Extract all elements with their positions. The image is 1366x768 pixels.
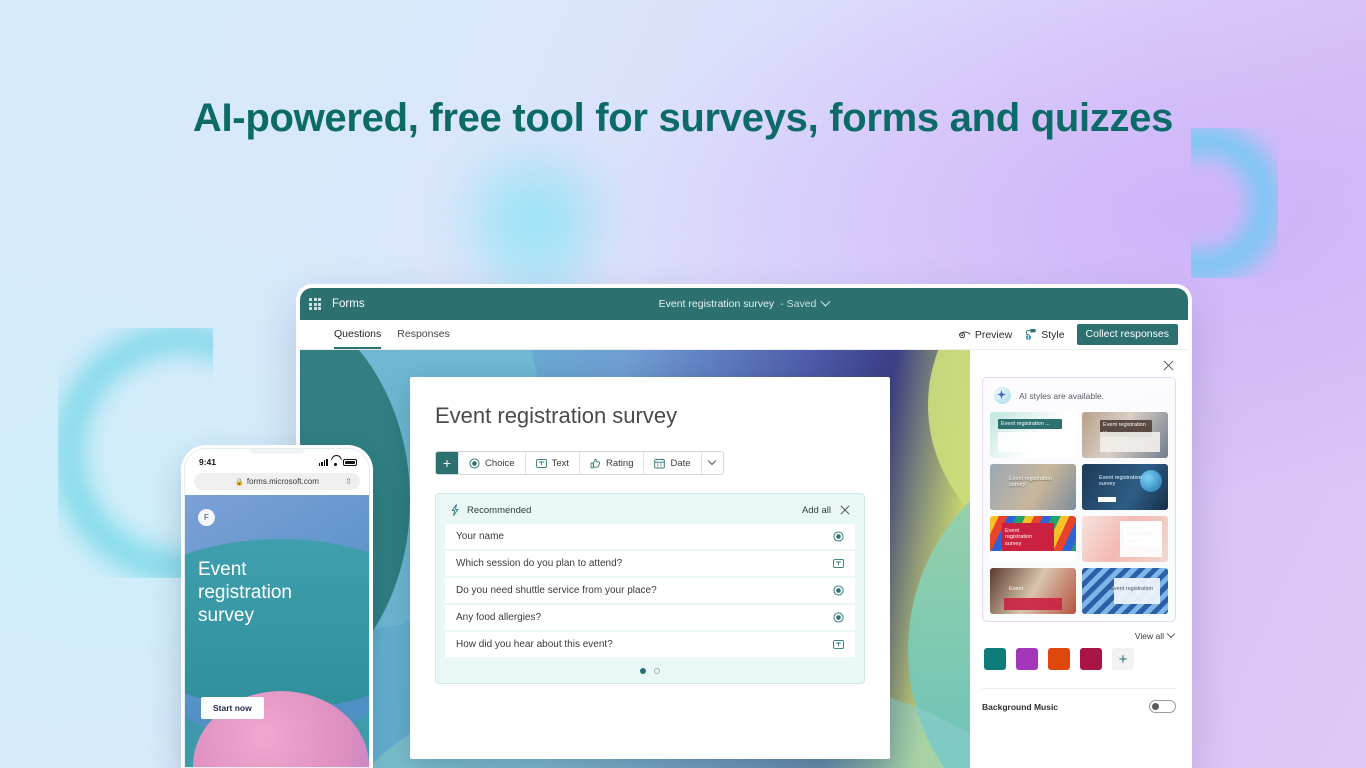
recommended-header: Recommended Add all xyxy=(445,502,855,524)
text-box-icon xyxy=(833,558,844,569)
tab-list: Questions Responses xyxy=(334,320,450,349)
theme-label: Event xyxy=(1006,584,1026,594)
pagination-dots xyxy=(445,659,855,674)
text-box-icon xyxy=(833,639,844,650)
paint-roller-icon xyxy=(1024,328,1037,341)
list-item[interactable]: How did you hear about this event? xyxy=(445,632,855,657)
question-type-date-label: Date xyxy=(670,458,690,469)
phone-notch xyxy=(249,449,305,454)
plus-icon: + xyxy=(443,456,451,470)
recommended-title: Recommended xyxy=(467,505,531,516)
add-all-button[interactable]: Add all xyxy=(802,505,831,516)
question-type-text[interactable]: Text xyxy=(525,452,579,474)
pagination-dot[interactable] xyxy=(654,668,660,674)
collect-responses-button[interactable]: Collect responses xyxy=(1077,324,1178,345)
background-music-label: Background Music xyxy=(982,702,1058,712)
theme-thumbnail-floral-pink[interactable]: Event registration survey xyxy=(1082,516,1168,562)
ai-styles-notice: AI styles are available. xyxy=(990,385,1168,412)
chevron-down-icon[interactable] xyxy=(821,296,831,306)
background-blob-left xyxy=(440,130,630,300)
question-type-rating[interactable]: Rating xyxy=(579,452,643,474)
theme-gallery: AI styles are available. Event registrat… xyxy=(982,377,1176,622)
save-state-label: - Saved xyxy=(780,298,816,310)
radio-button-icon xyxy=(833,612,844,623)
form-sheet: Event registration survey + Choice Text xyxy=(410,377,890,759)
tab-questions[interactable]: Questions xyxy=(334,320,381,349)
theme-label: Event registration xyxy=(1107,584,1156,594)
add-color-button[interactable]: + xyxy=(1112,648,1134,670)
background-music-setting: Background Music xyxy=(982,688,1176,713)
radio-button-icon xyxy=(833,531,844,542)
more-question-types-button[interactable] xyxy=(701,452,723,474)
recommended-question-text: Any food allergies? xyxy=(456,612,541,623)
list-item[interactable]: Any food allergies? xyxy=(445,605,855,630)
background-music-toggle[interactable] xyxy=(1149,700,1176,713)
plus-icon: + xyxy=(1119,652,1128,667)
document-title: Event registration survey xyxy=(659,298,775,310)
phone-url-text: forms.microsoft.com xyxy=(247,477,319,486)
page-title: AI-powered, free tool for surveys, forms… xyxy=(0,96,1366,141)
theme-label: Event registration ... xyxy=(1100,420,1152,437)
lock-icon: 🔒 xyxy=(235,478,244,486)
question-type-toolbar: + Choice Text xyxy=(435,451,724,475)
avatar: F xyxy=(198,509,215,526)
eye-icon xyxy=(958,329,971,340)
view-all-label: View all xyxy=(1135,631,1164,641)
theme-label: Event registration survey xyxy=(1096,473,1154,490)
phone-url-bar[interactable]: 🔒 forms.microsoft.com ⇧ xyxy=(194,473,360,490)
theme-thumbnail-autumn-red[interactable]: Event xyxy=(990,568,1076,614)
theme-thumbnail-night-globe[interactable]: Event registration survey xyxy=(1082,464,1168,510)
theme-thumbnail-teal-minimal[interactable]: Event registration ... xyxy=(990,412,1076,458)
forms-app-window: Forms Event registration survey - Saved … xyxy=(300,288,1188,768)
theme-label: Event registration ... xyxy=(998,419,1062,429)
style-panel: AI styles are available. Event registrat… xyxy=(970,350,1188,768)
cellular-bars-icon xyxy=(319,459,328,466)
color-swatch-purple[interactable] xyxy=(1016,648,1038,670)
document-title-group[interactable]: Event registration survey - Saved xyxy=(300,298,1188,310)
lightning-sparkle-icon xyxy=(450,504,461,516)
preview-button[interactable]: Preview xyxy=(958,329,1012,341)
wifi-icon xyxy=(331,459,340,466)
radio-button-icon xyxy=(469,458,480,469)
style-button[interactable]: Style xyxy=(1024,328,1064,341)
style-label: Style xyxy=(1041,329,1064,341)
theme-thumbnail-color-blocks[interactable]: Event registration survey xyxy=(990,516,1076,562)
theme-label: Event registration survey xyxy=(1002,526,1042,549)
recommended-question-text: How did you hear about this event? xyxy=(456,639,613,650)
ai-styles-label: AI styles are available. xyxy=(1019,391,1104,401)
chevron-down-icon xyxy=(708,457,716,465)
radio-button-icon xyxy=(833,585,844,596)
share-icon[interactable]: ⇧ xyxy=(345,477,352,486)
status-time: 9:41 xyxy=(199,457,216,467)
calendar-icon xyxy=(654,458,665,469)
close-icon[interactable] xyxy=(840,505,850,515)
phone-mockup: 9:41 🔒 forms.microsoft.com ⇧ F Event reg… xyxy=(184,448,370,768)
recommended-question-text: Your name xyxy=(456,531,504,542)
style-panel-close-button[interactable] xyxy=(982,358,1176,377)
recommended-actions: Add all xyxy=(802,505,850,516)
list-item[interactable]: Do you need shuttle service from your pl… xyxy=(445,578,855,603)
thumbs-up-icon xyxy=(590,458,601,469)
view-all-button[interactable]: View all xyxy=(982,622,1176,648)
theme-thumbnail-grid: Event registration ... Event registratio… xyxy=(990,412,1168,614)
question-type-choice[interactable]: Choice xyxy=(458,452,525,474)
recommended-question-text: Do you need shuttle service from your pl… xyxy=(456,585,657,596)
battery-full-icon xyxy=(343,459,357,466)
color-swatch-row: + xyxy=(982,648,1176,670)
list-item[interactable]: Your name xyxy=(445,524,855,549)
theme-label: Event registration survey xyxy=(1124,523,1160,546)
question-type-text-label: Text xyxy=(552,458,569,469)
question-type-choice-label: Choice xyxy=(485,458,515,469)
ai-sparkle-orb-icon xyxy=(994,387,1011,404)
color-swatch-teal[interactable] xyxy=(984,648,1006,670)
question-type-date[interactable]: Date xyxy=(643,452,700,474)
color-swatch-orange[interactable] xyxy=(1048,648,1070,670)
command-bar-actions: Preview Style Collect responses xyxy=(958,320,1178,349)
phone-form-title: Event registration survey xyxy=(198,558,328,628)
chevron-down-icon xyxy=(1167,630,1175,638)
theme-label: Event registration survey xyxy=(1006,474,1064,491)
add-question-button[interactable]: + xyxy=(436,452,458,474)
pagination-dot-active[interactable] xyxy=(640,668,646,674)
recommended-question-text: Which session do you plan to attend? xyxy=(456,558,622,569)
color-swatch-crimson[interactable] xyxy=(1080,648,1102,670)
theme-thumbnail-blue-stripes[interactable]: Event registration xyxy=(1082,568,1168,614)
recommended-panel: Recommended Add all Your name Whi xyxy=(435,493,865,684)
form-title[interactable]: Event registration survey xyxy=(435,403,865,429)
theme-thumbnail-conference-room[interactable]: Event registration survey xyxy=(990,464,1076,510)
theme-thumbnail-warm-workspace[interactable]: Event registration ... xyxy=(1082,412,1168,458)
app-title-bar: Forms Event registration survey - Saved xyxy=(300,288,1188,320)
start-now-button[interactable]: Start now xyxy=(201,697,264,719)
status-indicators xyxy=(319,459,357,466)
phone-form-preview: F Event registration survey Start now xyxy=(185,495,369,767)
question-type-rating-label: Rating xyxy=(606,458,633,469)
preview-label: Preview xyxy=(975,329,1012,341)
tab-responses[interactable]: Responses xyxy=(397,320,450,349)
list-item[interactable]: Which session do you plan to attend? xyxy=(445,551,855,576)
text-box-icon xyxy=(536,458,547,469)
background-arc-right xyxy=(1128,128,1278,278)
form-canvas: Event registration survey + Choice Text xyxy=(300,350,1188,768)
command-bar: Questions Responses Preview xyxy=(300,320,1188,350)
